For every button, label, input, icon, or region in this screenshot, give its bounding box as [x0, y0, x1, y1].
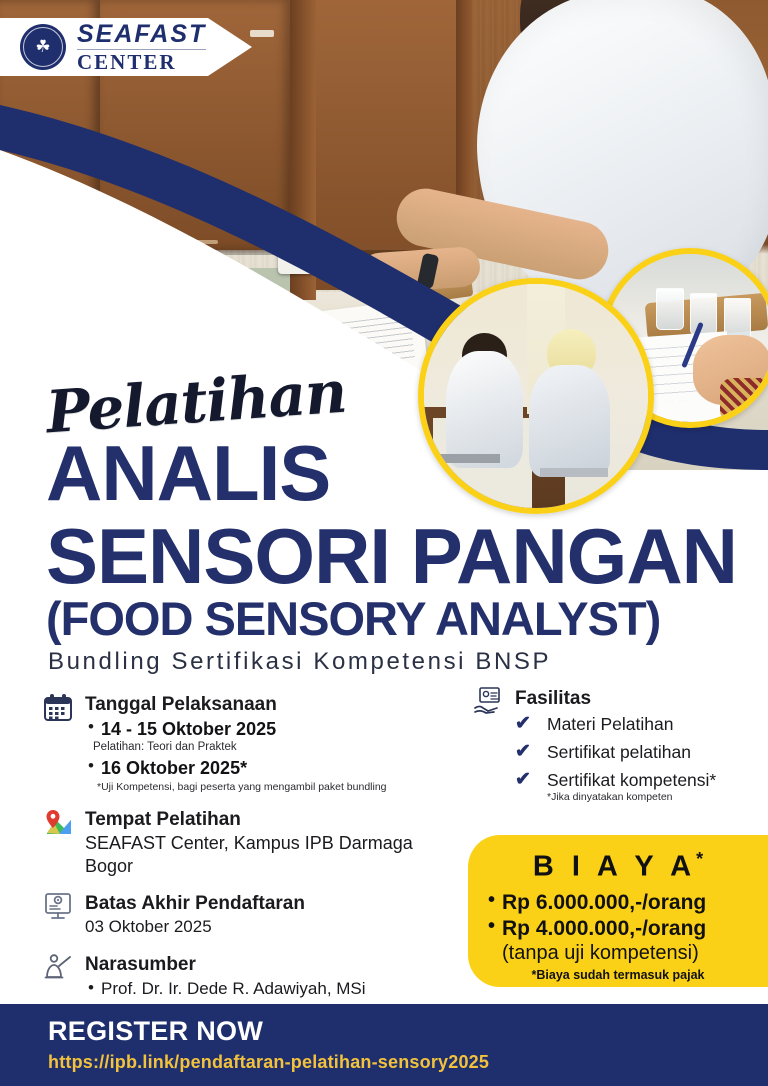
map-pin-icon [42, 807, 76, 841]
facilities-heading: Fasilitas [515, 688, 762, 710]
check-icon: ✔ [515, 770, 537, 789]
register-footer: REGISTER NOW https://ipb.link/pendaftara… [0, 1004, 768, 1086]
wall-outlet [278, 232, 314, 274]
title-line-3: (FOOD SENSORY ANALYST) [46, 595, 660, 642]
price-list: Rp 6.000.000,-/orang Rp 4.000.000,-/oran… [482, 891, 754, 943]
cabinet-handle-2 [160, 240, 218, 244]
facilities-content: Fasilitas ✔ Materi Pelatihan ✔ Sertifika… [515, 686, 762, 803]
seal-glyph: ☘ [35, 38, 50, 55]
venue-block: Tempat Pelatihan SEAFAST Center, Kampus … [42, 807, 452, 877]
poster-root: ☘ SEAFAST CENTER Pelatihan ANALIS SENSOR… [0, 0, 768, 1086]
price-subnote: (tanpa uji kompetensi) [502, 942, 754, 965]
schedule-heading: Tanggal Pelaksanaan [85, 694, 452, 716]
schedule-item: 16 Oktober 2025* [101, 756, 452, 781]
handshake-certificate-icon [472, 686, 506, 720]
schedule-date-1: 14 - 15 Oktober 2025 [101, 719, 276, 739]
schedule-list: 14 - 15 Oktober 2025 [85, 717, 452, 742]
schedule-item: 14 - 15 Oktober 2025 [101, 717, 452, 742]
circle-right-glass-1 [656, 288, 683, 330]
circle-left-person-b [529, 365, 610, 477]
cabinet-handle-1 [128, 186, 200, 190]
check-icon: ✔ [515, 742, 537, 761]
register-url[interactable]: https://ipb.link/pendaftaran-pelatihan-s… [48, 1052, 768, 1073]
speaker-item: Prof. Dr. Ir. Dede R. Adawiyah, MSi [101, 977, 452, 1002]
price-box: B I A Y A* Rp 6.000.000,-/orang Rp 4.000… [468, 835, 768, 987]
circle-left-person-a [446, 351, 522, 467]
venue-line-1: SEAFAST Center, Kampus IPB Darmaga [85, 832, 452, 855]
ipb-seal-icon: ☘ [20, 24, 66, 70]
facility-label: Sertifikat pelatihan [547, 742, 691, 762]
seafast-wordmark: SEAFAST CENTER [77, 22, 206, 73]
circle-left-chair-a [437, 454, 500, 463]
circle-right-glass-3 [724, 298, 751, 340]
info-column-right: Fasilitas ✔ Materi Pelatihan ✔ Sertifika… [472, 686, 762, 807]
facility-label: Materi Pelatihan [547, 714, 673, 734]
price-title-asterisk: * [696, 849, 703, 869]
presenter-icon [42, 952, 76, 986]
seafast-primary: SEAFAST [77, 22, 206, 47]
facility-item: ✔ Materi Pelatihan [515, 714, 762, 734]
facility-item: ✔ Sertifikat pelatihan [515, 742, 762, 762]
seafast-logo-banner: ☘ SEAFAST CENTER [0, 18, 252, 76]
schedule-block: Tanggal Pelaksanaan 14 - 15 Oktober 2025… [42, 692, 452, 795]
deadline-heading: Batas Akhir Pendaftaran [85, 893, 452, 915]
schedule-note-2: *Uji Kompetensi, bagi peserta yang menga… [97, 781, 452, 793]
venue-heading: Tempat Pelatihan [85, 809, 452, 831]
calendar-icon [42, 692, 76, 726]
schedule-list-2: 16 Oktober 2025* [85, 756, 452, 781]
info-column-left: Tanggal Pelaksanaan 14 - 15 Oktober 2025… [42, 692, 452, 1055]
facility-label: Sertifikat kompetensi* [547, 770, 716, 790]
seafast-secondary: CENTER [77, 52, 206, 73]
speakers-heading: Narasumber [85, 954, 452, 976]
facility-note: *Jika dinyatakan kompeten [547, 791, 762, 803]
circle-photo-panelists [418, 278, 654, 514]
title-subtitle: Bundling Sertifikasi Kompetensi BNSP [48, 648, 551, 676]
schedule-content: Tanggal Pelaksanaan 14 - 15 Oktober 2025… [85, 692, 452, 795]
registration-monitor-icon [42, 891, 76, 925]
price-title-row: B I A Y A* [482, 849, 754, 884]
price-item: Rp 6.000.000,-/orang [502, 891, 754, 916]
schedule-note-1: Pelatihan: Teori dan Praktek [93, 741, 452, 753]
title-line-2: SENSORI PANGAN [46, 519, 737, 594]
deadline-value: 03 Oktober 2025 [85, 916, 452, 938]
venue-content: Tempat Pelatihan SEAFAST Center, Kampus … [85, 807, 452, 877]
circle-right-glass-2 [690, 293, 717, 335]
price-footnote: *Biaya sudah termasuk pajak [482, 968, 754, 982]
price-item: Rp 4.000.000,-/orang [502, 917, 754, 942]
schedule-date-2: 16 Oktober 2025* [101, 758, 247, 778]
title-line-1: ANALIS [46, 436, 330, 511]
circle-left-chair-b [540, 468, 607, 477]
facilities-block: Fasilitas ✔ Materi Pelatihan ✔ Sertifika… [472, 686, 762, 803]
register-cta: REGISTER NOW [48, 1018, 768, 1045]
deadline-content: Batas Akhir Pendaftaran 03 Oktober 2025 [85, 891, 452, 938]
venue-line-2: Bogor [85, 855, 452, 878]
deadline-block: Batas Akhir Pendaftaran 03 Oktober 2025 [42, 891, 452, 938]
circle-right-sleeve [720, 378, 768, 422]
floor-patch [95, 268, 295, 304]
facility-item: ✔ Sertifikat kompetensi* [515, 770, 762, 790]
price-title: B I A Y A [533, 851, 696, 883]
check-icon: ✔ [515, 714, 537, 733]
label-tag-1 [250, 30, 274, 37]
